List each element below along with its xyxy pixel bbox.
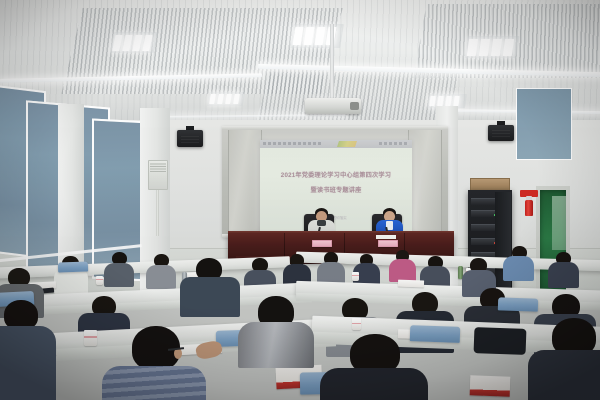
audience-body xyxy=(389,259,416,282)
chair-back xyxy=(58,261,88,272)
paper-cup xyxy=(96,276,103,285)
slide-toolbar-icons-right xyxy=(379,142,409,145)
audience-person-foreground xyxy=(326,334,422,400)
audience-body xyxy=(180,277,240,317)
paper-cup xyxy=(84,330,97,346)
wall-speaker xyxy=(177,130,203,147)
audience-person-foreground xyxy=(0,300,56,400)
audience-body xyxy=(102,366,206,400)
handbag xyxy=(474,327,527,355)
door-window-light xyxy=(552,196,566,250)
rack-unit xyxy=(471,224,497,231)
slide-title-line-2: 暨读书班专题讲座 xyxy=(260,185,412,194)
paper-cup xyxy=(352,318,361,330)
chair-back xyxy=(498,297,538,311)
podium-papers xyxy=(376,235,396,239)
nameplate xyxy=(378,240,398,247)
rack-unit xyxy=(471,198,497,205)
ceiling-panel-light xyxy=(464,36,519,58)
window-blind xyxy=(516,88,572,160)
slide-toolbar-icons-left xyxy=(263,142,321,145)
board-top-rail xyxy=(222,126,448,130)
paper-cup xyxy=(352,272,359,281)
audience-person-foreground xyxy=(106,326,202,400)
presenter-left-collar xyxy=(317,220,326,226)
document-red-cover xyxy=(470,375,511,396)
audience-body xyxy=(104,263,134,287)
audience-body xyxy=(528,350,600,400)
audience-person-foreground xyxy=(534,318,600,400)
audience-body xyxy=(503,256,534,281)
audience-person xyxy=(238,296,314,360)
nameplate xyxy=(312,240,332,247)
wall-conduit-pipe xyxy=(156,190,159,236)
slide-toolbar xyxy=(260,140,412,148)
projector-lens xyxy=(350,102,359,110)
audience-body xyxy=(548,262,579,288)
wall-control-box-grille xyxy=(150,163,166,172)
ceiling-panel-light xyxy=(290,24,344,48)
sliding-board-panel xyxy=(408,130,442,234)
audience-body xyxy=(320,368,428,400)
photo-scene: 2021年党委理论学习中心组第四次学习 暨读书班专题讲座 学习贯彻落实 xyxy=(0,0,600,400)
ceiling-panel-light xyxy=(207,92,245,106)
wall-speaker xyxy=(488,125,514,141)
slide-title-line-1: 2021年党委理论学习中心组第四次学习 xyxy=(260,170,412,179)
ceiling-panel-light xyxy=(110,32,158,53)
fire-extinguisher xyxy=(525,200,533,216)
audience-body xyxy=(238,322,314,368)
slide-toolbar-color-band xyxy=(337,141,357,147)
audience-body xyxy=(146,265,176,289)
notebook xyxy=(398,280,424,288)
sliding-board-panel xyxy=(228,130,262,234)
projector-mount-pole xyxy=(330,24,334,100)
audience-body xyxy=(0,326,56,400)
